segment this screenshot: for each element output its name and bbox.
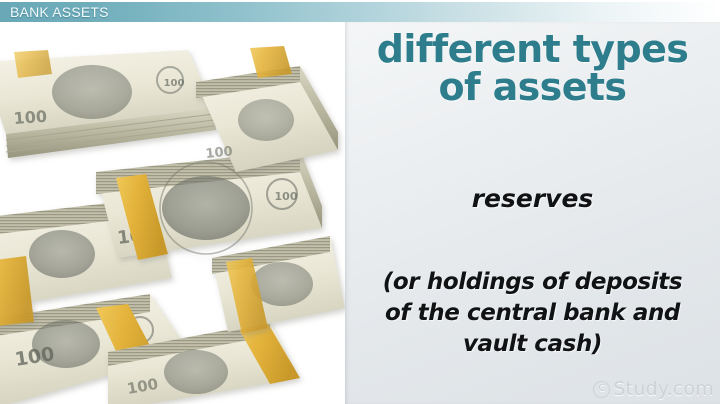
heading-line-1: different types	[345, 30, 720, 68]
watermark-text: Study.com	[613, 378, 714, 400]
svg-text:100: 100	[164, 78, 185, 89]
page-title: different types of assets	[345, 30, 720, 106]
money-photo: 100 100	[0, 22, 345, 404]
term-label: reserves	[345, 185, 720, 213]
content-pane: different types of assets reserves (or h…	[345, 22, 720, 404]
copyright-icon	[593, 381, 610, 398]
money-photo-illustration: 100 100	[0, 22, 345, 404]
definition-line-1: (or holdings of deposits	[351, 267, 714, 298]
definition-line-2: of the central bank and	[351, 298, 714, 329]
svg-text:100: 100	[13, 107, 48, 128]
slide-canvas: BANK ASSETS	[0, 0, 720, 404]
header-title: BANK ASSETS	[10, 2, 109, 22]
svg-text:100: 100	[275, 190, 298, 203]
definition-line-3: vault cash)	[351, 329, 714, 360]
heading-line-2: of assets	[345, 68, 720, 106]
svg-text:100: 100	[205, 144, 234, 162]
watermark: Study.com	[593, 378, 714, 400]
term-definition: (or holdings of deposits of the central …	[351, 267, 714, 360]
